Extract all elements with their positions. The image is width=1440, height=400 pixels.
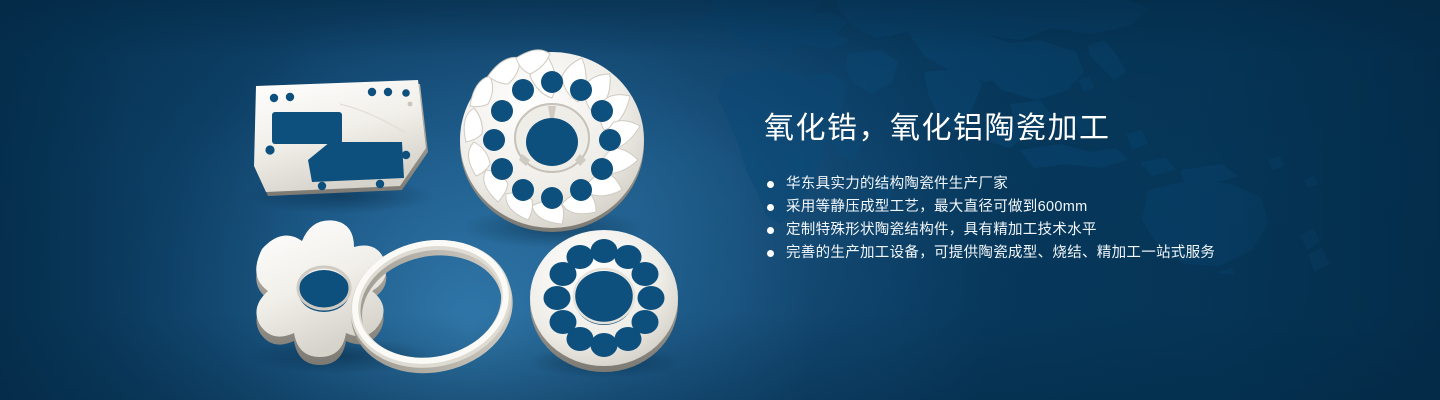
list-item: 完善的生产加工设备，可提供陶瓷成型、烧结、精加工一站式服务 bbox=[764, 245, 1404, 262]
bullet-dot-icon bbox=[767, 204, 774, 211]
hero-banner: 氧化锆，氧化铝陶瓷加工 华东具实力的结构陶瓷件生产厂家 采用等静压成型工艺，最大… bbox=[0, 0, 1440, 400]
banner-copy: 氧化锆，氧化铝陶瓷加工 华东具实力的结构陶瓷件生产厂家 采用等静压成型工艺，最大… bbox=[764, 108, 1404, 262]
list-item-label: 华东具实力的结构陶瓷件生产厂家 bbox=[786, 176, 1008, 192]
ceramic-products-image bbox=[0, 0, 730, 400]
bullet-dot-icon bbox=[767, 250, 774, 257]
list-item: 华东具实力的结构陶瓷件生产厂家 bbox=[764, 176, 1404, 193]
list-item: 采用等静压成型工艺，最大直径可做到600mm bbox=[764, 199, 1404, 216]
list-item-label: 定制特殊形状陶瓷结构件，具有精加工技术水平 bbox=[786, 222, 1097, 238]
bullet-dot-icon bbox=[767, 181, 774, 188]
feature-list: 华东具实力的结构陶瓷件生产厂家 采用等静压成型工艺，最大直径可做到600mm 定… bbox=[764, 176, 1404, 262]
list-item-label: 完善的生产加工设备，可提供陶瓷成型、烧结、精加工一站式服务 bbox=[786, 245, 1215, 261]
list-item: 定制特殊形状陶瓷结构件，具有精加工技术水平 bbox=[764, 222, 1404, 239]
page-title: 氧化锆，氧化铝陶瓷加工 bbox=[764, 108, 1404, 150]
list-item-label: 采用等静压成型工艺，最大直径可做到600mm bbox=[786, 199, 1087, 215]
bullet-dot-icon bbox=[767, 227, 774, 234]
